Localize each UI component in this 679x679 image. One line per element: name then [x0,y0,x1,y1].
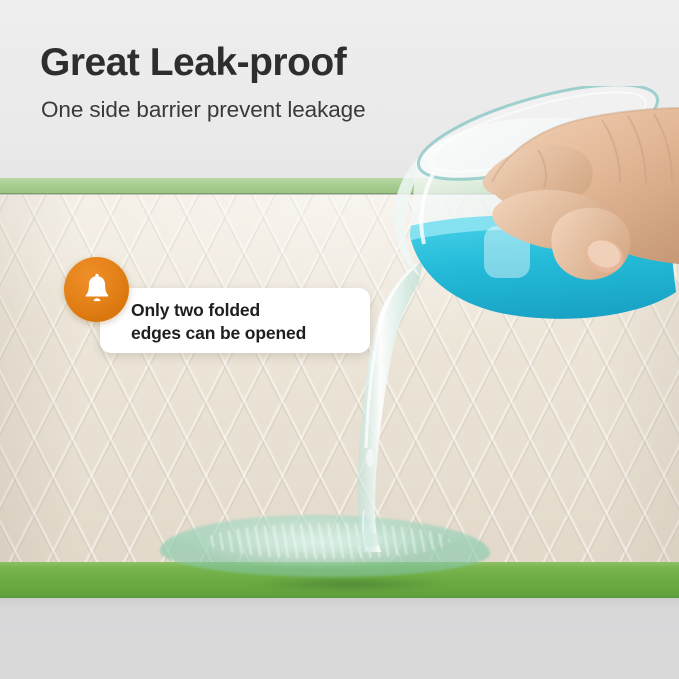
bell-icon [80,273,114,307]
glass-beaker-pouring-icon [388,86,679,328]
bell-badge [64,257,129,322]
page-subtitle: One side barrier prevent leakage [41,96,366,124]
page-title: Great Leak-proof [40,41,346,85]
callout-label: Only two folded edges can be opened [131,299,363,346]
background-lower [0,598,679,679]
pad-edge-wet-shadow [215,574,485,594]
product-feature-image: Great Leak-proof One side barrier preven… [0,0,679,679]
